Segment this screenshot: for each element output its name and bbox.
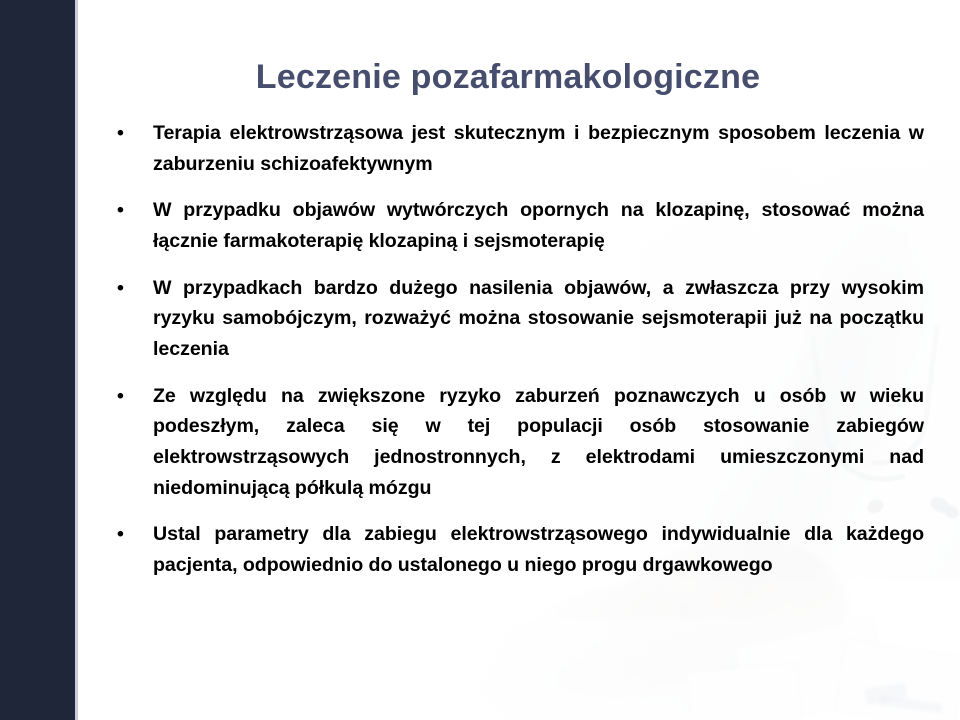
bullet-point-icon: •: [117, 118, 124, 149]
page-title: Leczenie pozafarmakologiczne: [78, 59, 938, 96]
bullet-list: • Terapia elektrowstrząsowa jest skutecz…: [112, 118, 924, 581]
list-item-text: W przypadku objawów wytwórczych opornych…: [153, 195, 924, 256]
bullet-point-icon: •: [117, 519, 124, 550]
slide-content: Leczenie pozafarmakologiczne • Terapia e…: [0, 0, 960, 720]
list-item: • Terapia elektrowstrząsowa jest skutecz…: [112, 118, 924, 179]
list-item-text: W przypadkach bardzo dużego nasilenia ob…: [153, 273, 924, 365]
presentation-slide: Leczenie pozafarmakologiczne • Terapia e…: [0, 0, 960, 720]
list-item: • W przypadkach bardzo dużego nasilenia …: [112, 273, 924, 365]
list-item-text: Ze względu na zwiększone ryzyko zaburzeń…: [153, 381, 924, 504]
list-item: • W przypadku objawów wytwórczych oporny…: [112, 195, 924, 256]
list-item: • Ze względu na zwiększone ryzyko zaburz…: [112, 381, 924, 504]
bullet-point-icon: •: [117, 381, 124, 412]
list-item-text: Ustal parametry dla zabiegu elektrowstrz…: [153, 519, 924, 580]
list-item-text: Terapia elektrowstrząsowa jest skuteczny…: [153, 118, 924, 179]
list-item: • Ustal parametry dla zabiegu elektrowst…: [112, 519, 924, 580]
bullet-point-icon: •: [117, 195, 124, 226]
bullet-point-icon: •: [117, 273, 124, 304]
